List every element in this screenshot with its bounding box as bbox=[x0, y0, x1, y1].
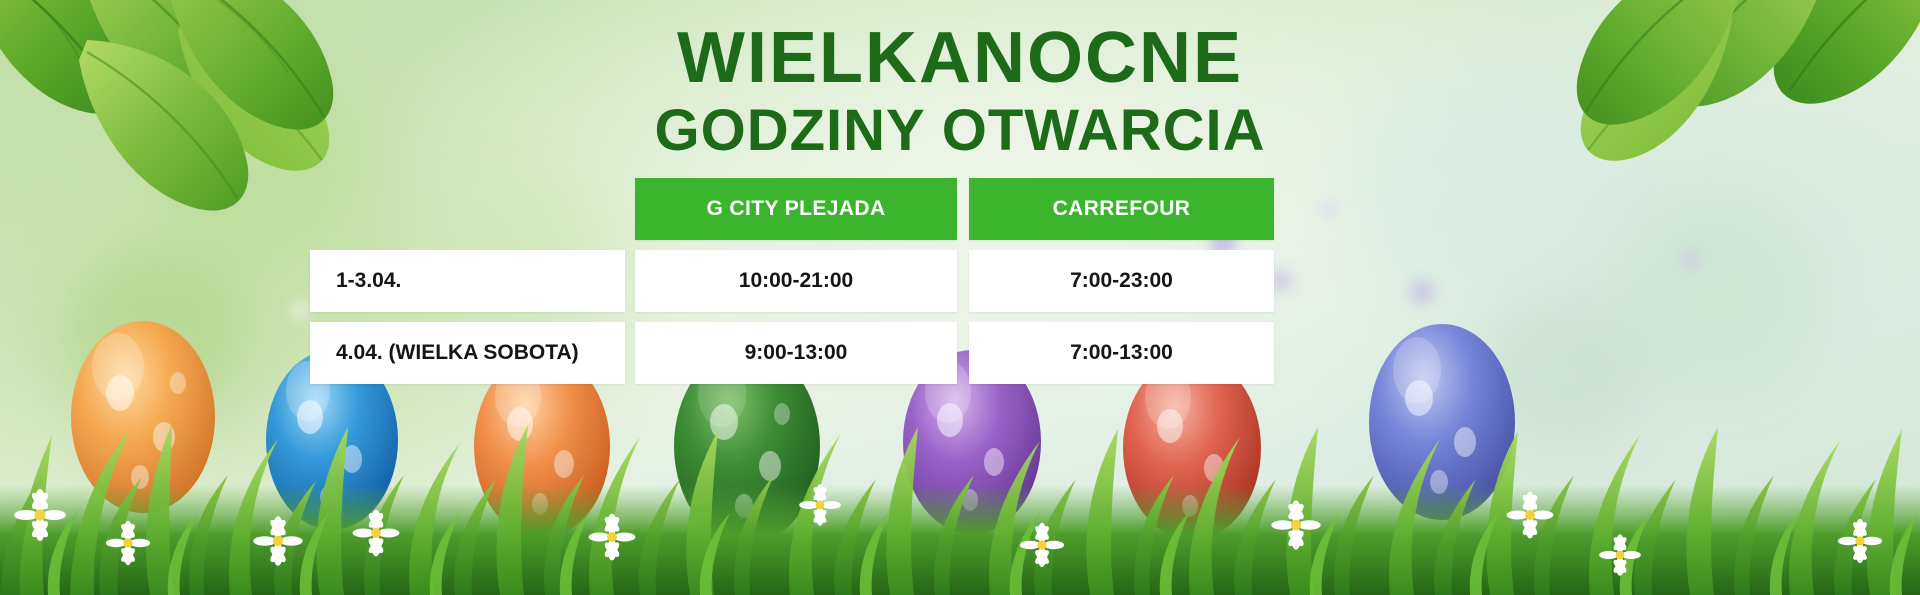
bokeh-blob bbox=[60, 250, 250, 430]
bokeh-flower bbox=[290, 300, 310, 320]
table-row: 4.04. (WIELKA SOBOTA) 9:00-13:00 7:00-13… bbox=[310, 322, 1274, 384]
cell-carrefour-hours: 7:00-23:00 bbox=[969, 250, 1274, 312]
page-title: WIELKANOCNE GODZINY OTWARCIA bbox=[0, 22, 1920, 160]
cell-carrefour-hours-label: 7:00-13:00 bbox=[1070, 341, 1173, 365]
column-header-plejada-label: G CITY PLEJADA bbox=[706, 197, 885, 221]
bokeh-flower bbox=[1320, 200, 1338, 218]
column-header-plejada: G CITY PLEJADA bbox=[635, 178, 957, 240]
column-header-carrefour: CARREFOUR bbox=[969, 178, 1274, 240]
cell-date-label: 1-3.04. bbox=[336, 269, 401, 293]
table-row: 1-3.04. 10:00-21:00 7:00-23:00 bbox=[310, 250, 1274, 312]
easter-egg-blue-2 bbox=[1355, 300, 1530, 525]
cell-plejada-hours: 9:00-13:00 bbox=[635, 322, 957, 384]
bokeh-blob bbox=[1480, 300, 1650, 450]
bokeh-blob bbox=[1620, 200, 1820, 400]
easter-opening-hours-banner: WIELKANOCNE GODZINY OTWARCIA G CITY PLEJ… bbox=[0, 0, 1920, 595]
grass-meadow bbox=[0, 365, 1920, 595]
cell-date: 4.04. (WIELKA SOBOTA) bbox=[310, 322, 625, 384]
column-header-carrefour-label: CARREFOUR bbox=[1053, 197, 1191, 221]
title-line-1: WIELKANOCNE bbox=[0, 22, 1920, 94]
cell-date: 1-3.04. bbox=[310, 250, 625, 312]
opening-hours-table: G CITY PLEJADA CARREFOUR 1-3.04. 10:00-2… bbox=[310, 178, 1274, 384]
table-header-row: G CITY PLEJADA CARREFOUR bbox=[635, 178, 1274, 240]
cell-date-label: 4.04. (WIELKA SOBOTA) bbox=[336, 341, 579, 365]
bokeh-flower bbox=[1410, 280, 1434, 304]
title-line-2: GODZINY OTWARCIA bbox=[0, 102, 1920, 160]
cell-plejada-hours: 10:00-21:00 bbox=[635, 250, 957, 312]
cell-carrefour-hours-label: 7:00-23:00 bbox=[1070, 269, 1173, 293]
cell-plejada-hours-label: 9:00-13:00 bbox=[745, 341, 848, 365]
cell-plejada-hours-label: 10:00-21:00 bbox=[739, 269, 853, 293]
bokeh-flower bbox=[1680, 250, 1700, 270]
white-daisies bbox=[14, 484, 1882, 576]
cell-carrefour-hours: 7:00-13:00 bbox=[969, 322, 1274, 384]
easter-egg-orange bbox=[58, 297, 228, 517]
